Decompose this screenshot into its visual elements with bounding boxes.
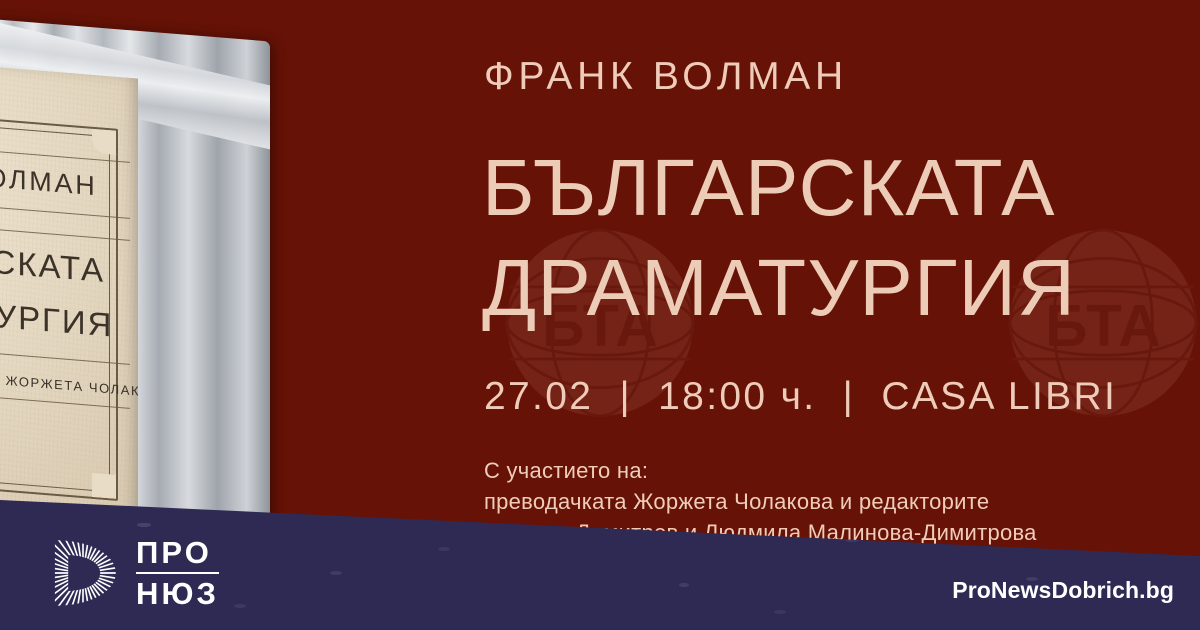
event-time: 18:00 ч. — [658, 375, 816, 418]
event-venue: CASA LIBRI — [881, 375, 1117, 418]
brand-line-1: ПРО — [136, 536, 219, 569]
book-image: ФРАНК ВОЛМАН БЪЛГАРСКАТА ДРАМАТУРГИЯ ПРЕ… — [0, 18, 308, 558]
poster-title-line1: БЪЛГАРСКАТА — [482, 148, 1056, 228]
brand-wordmark: ПРО НЮЗ — [136, 536, 219, 611]
event-poster: БТА БТА — [0, 0, 1200, 630]
brand-divider — [136, 572, 219, 574]
book-front-cover: ФРАНК ВОЛМАН БЪЛГАРСКАТА ДРАМАТУРГИЯ ПРЕ… — [0, 56, 138, 559]
event-details: 27.02 | 18:00 ч. | CASA LIBRI — [484, 375, 1117, 419]
poster-title-line2: ДРАМАТУРГИЯ — [482, 248, 1076, 328]
meta-separator: | — [830, 375, 868, 418]
cover-corner-ornament — [92, 473, 118, 501]
credits-line-1: С участието на: — [484, 455, 1037, 486]
brand-line-2: НЮЗ — [136, 577, 219, 610]
credits-line-2: преводачката Жоржета Чолакова и редактор… — [484, 486, 1037, 517]
site-url[interactable]: ProNewsDobrich.bg — [952, 577, 1174, 604]
meta-separator: | — [606, 375, 644, 418]
cover-corner-ornament — [92, 127, 118, 155]
poster-author: ФРАНК ВОЛМАН — [484, 55, 848, 99]
pronews-d-logo-icon — [44, 534, 122, 612]
event-date: 27.02 — [484, 375, 593, 418]
pronews-brand[interactable]: ПРО НЮЗ — [44, 534, 219, 612]
